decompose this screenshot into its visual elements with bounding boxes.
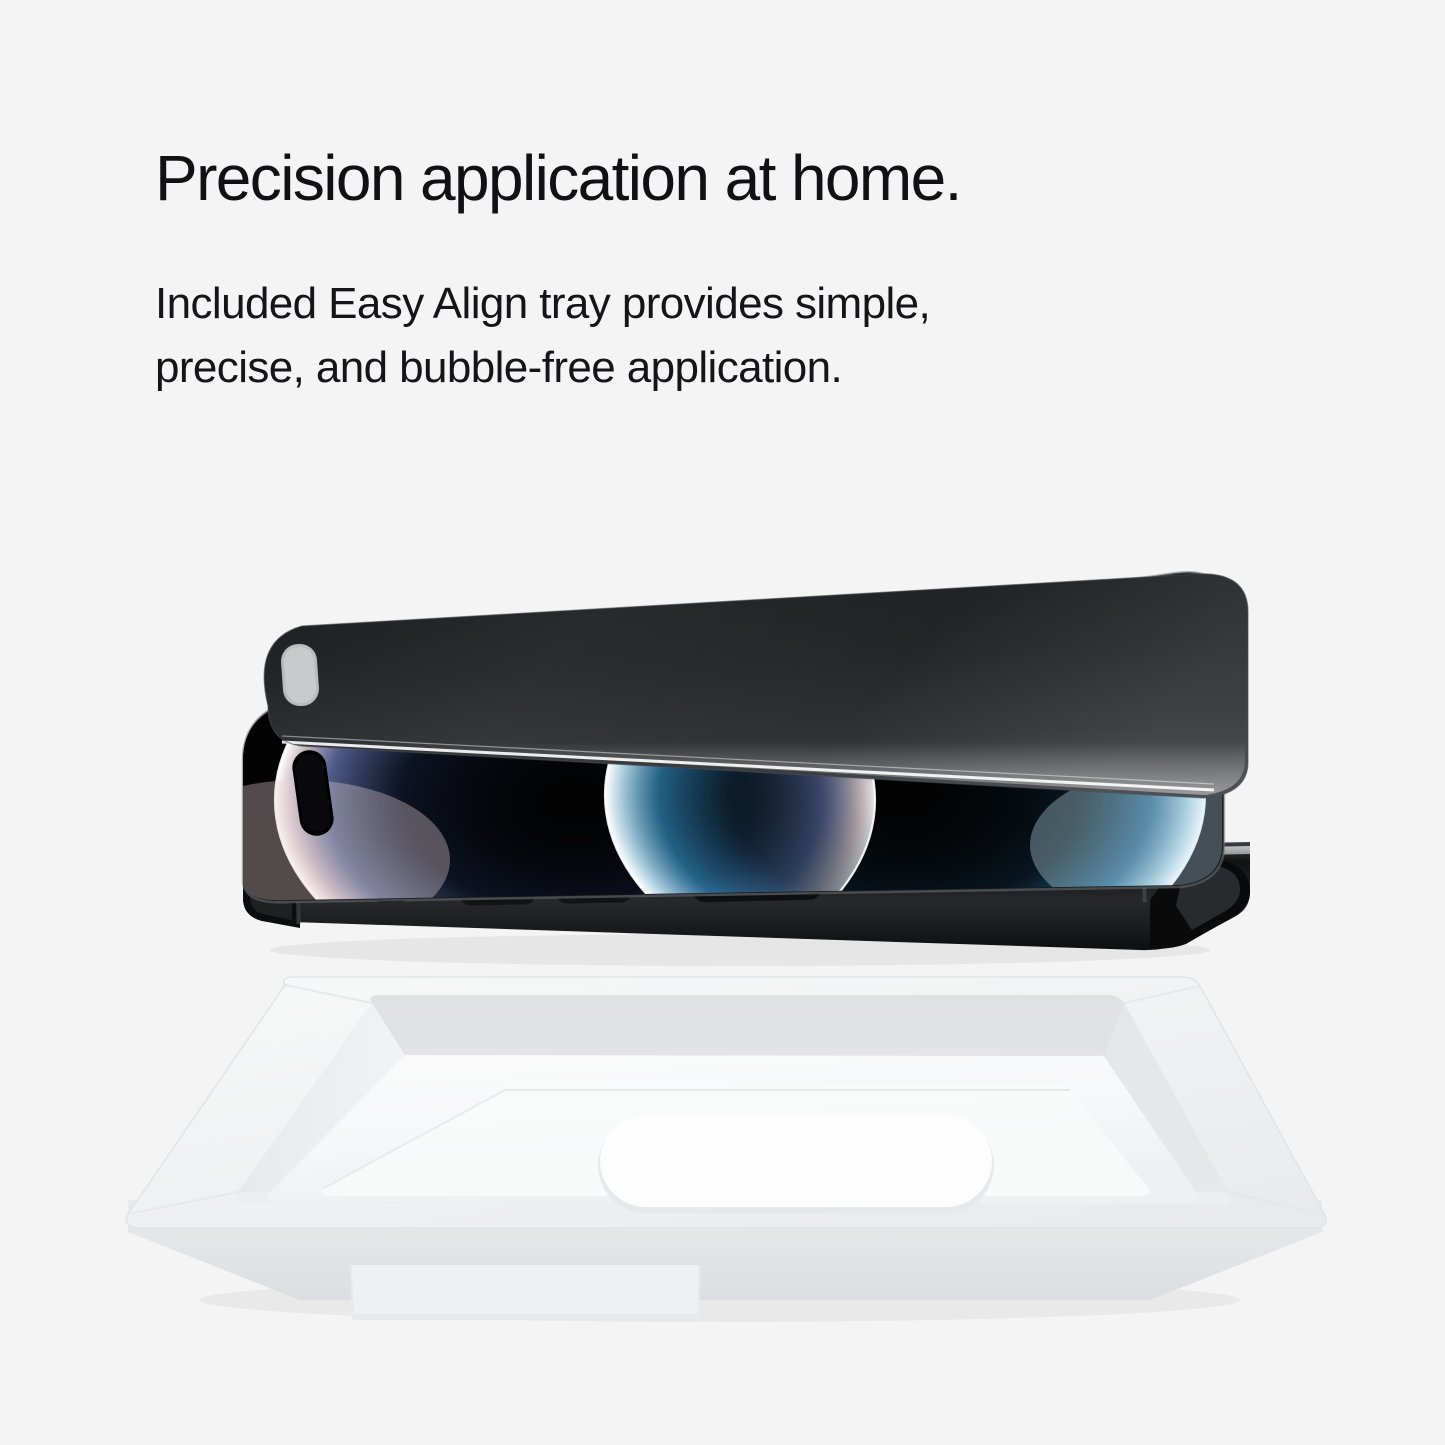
volume-up-button bbox=[556, 876, 633, 904]
phone-side-rail bbox=[243, 842, 1250, 950]
iphone-device bbox=[150, 560, 1330, 995]
marketing-copy: Precision application at home. Included … bbox=[155, 140, 1295, 400]
subheading-line-2: precise, and bubble-free application. bbox=[155, 336, 1135, 400]
sim-tray bbox=[692, 870, 823, 903]
phone-bezel bbox=[243, 572, 1224, 902]
page-title: Precision application at home. bbox=[155, 140, 1295, 216]
protector-dynamic-island-cutout bbox=[280, 643, 320, 707]
dynamic-island bbox=[290, 748, 336, 838]
mute-switch bbox=[372, 887, 408, 903]
tray-pill-cutout bbox=[598, 1115, 994, 1213]
phone-screen bbox=[150, 560, 1330, 995]
easy-align-tray bbox=[127, 977, 1327, 1322]
subheading: Included Easy Align tray provides simple… bbox=[155, 272, 1135, 400]
subheading-line-1: Included Easy Align tray provides simple… bbox=[155, 272, 1135, 336]
volume-down-button bbox=[460, 878, 537, 906]
screen-protector bbox=[250, 574, 1260, 800]
